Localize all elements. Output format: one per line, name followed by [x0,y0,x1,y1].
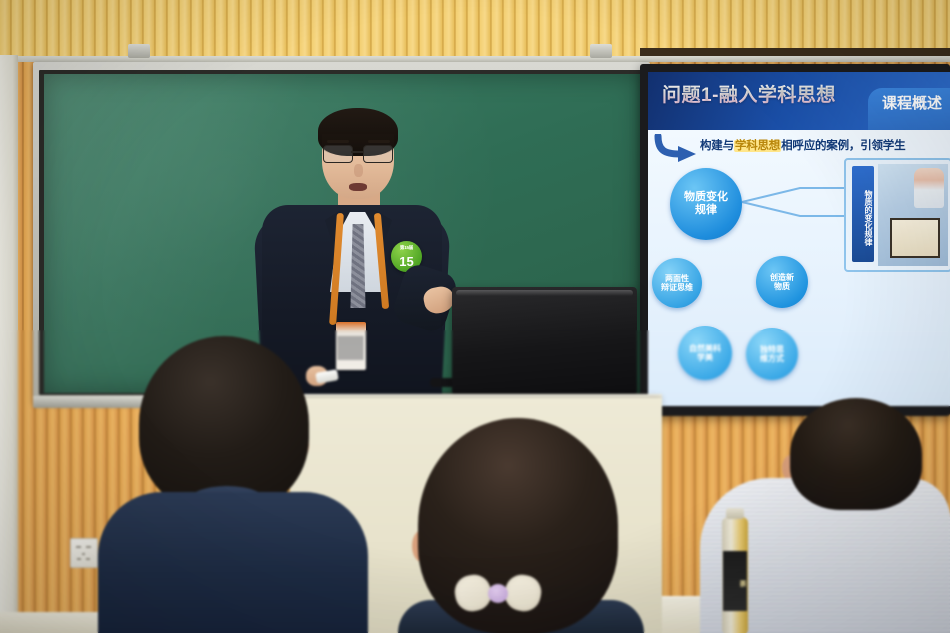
slide-section-tab[interactable]: 课程概述 [868,88,950,134]
node-connector-lines [740,182,850,222]
inset-figure [914,168,944,208]
computer-monitor[interactable] [452,287,637,395]
badge-top-text: 第15届 [391,245,422,251]
inset-photo [878,164,948,266]
center-node-line2: 规律 [684,204,728,217]
presenter-id-badge [336,322,366,370]
presenter-mouth [349,183,367,191]
attendee-right-head [790,398,922,510]
presenter-nose [354,164,363,177]
chalkboard-clip-left [128,44,150,58]
inset-book-image [890,218,940,258]
slide-node-3[interactable]: 自然美科 学美 [678,326,732,380]
wall-left-edge [0,55,18,633]
slide-node-1[interactable]: 两面性 辩证思维 [652,258,702,308]
subtitle-part-2: 相呼应的案例，引领学生 [781,140,905,152]
slide-node-2[interactable]: 创造新 物质 [756,256,808,308]
slide-subtitle: 构建与学科思想相呼应的案例，引领学生 [700,137,948,153]
slide-body: 构建与学科思想相呼应的案例，引领学生 物质变化 规律 两面性 辩证思维 创 [648,130,950,406]
slide-inset-panel[interactable]: 物质的变化规律 [844,158,950,272]
node-1-line2: 辩证思维 [661,283,693,292]
node-3-line1: 自然美科 [689,344,721,353]
glasses-icon [322,145,394,162]
slide-node-4[interactable]: 独特思 维方式 [746,328,798,380]
curved-arrow-icon [654,134,698,164]
node-4-line1: 独特思 [760,345,784,354]
slide-node-center[interactable]: 物质变化 规律 [670,168,742,240]
wall-outlet-panel[interactable] [70,538,98,568]
node-3-line2: 学美 [689,353,721,362]
presenter-eyebrow-right [368,140,390,143]
attendee-left-body [98,492,368,633]
drink-bottle[interactable]: 茶 [722,517,748,633]
subtitle-part-1: 构建与 [700,140,734,152]
classroom-scene: 问题1-融入学科思想 课程概述 构建与学科思想相呼应的案例，引领学生 物质变化 … [0,0,950,633]
chalkboard-clip-right [590,44,612,58]
hair-bow-accessory [455,575,541,611]
bottle-label: 茶 [723,551,747,611]
node-2-line1: 创造新 [770,273,794,282]
bottle-cap [726,508,744,519]
presentation-display[interactable]: 问题1-融入学科思想 课程概述 构建与学科思想相呼应的案例，引领学生 物质变化 … [648,72,950,406]
presenter-eyebrow-left [327,140,349,143]
node-4-line2: 维方式 [760,354,784,363]
slide-header-bar: 问题1-融入学科思想 课程概述 [648,72,950,130]
slide-title: 问题1-融入学科思想 [662,80,836,107]
node-2-line2: 物质 [770,282,794,291]
center-node-line1: 物质变化 [684,191,728,204]
inset-vertical-label: 物质的变化规律 [852,166,874,262]
subtitle-highlight: 学科思想 [734,140,781,152]
node-1-line1: 两面性 [661,274,693,283]
